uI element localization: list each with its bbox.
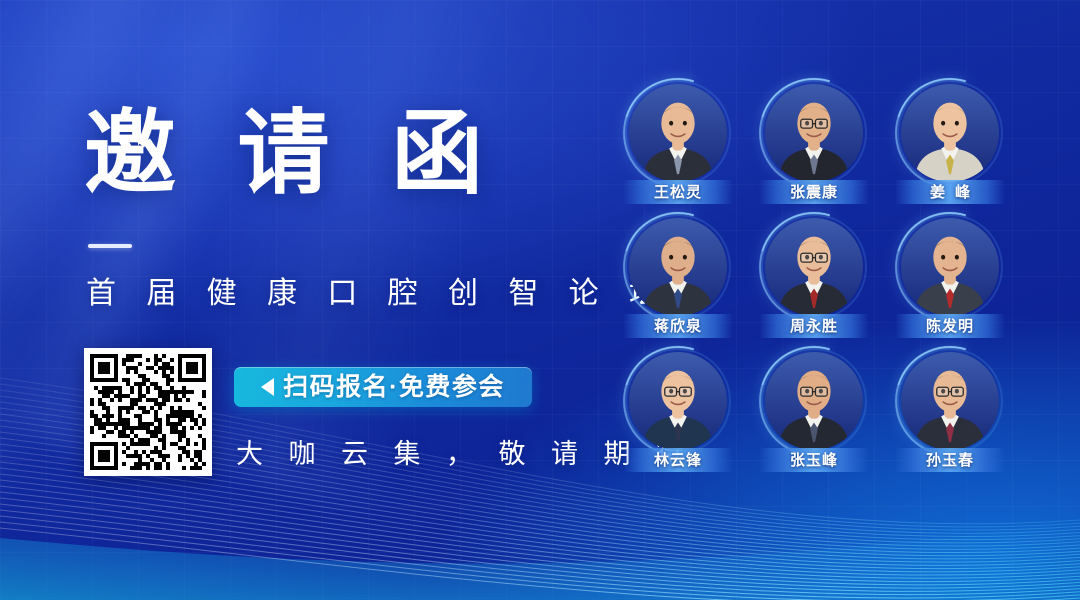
- avatar: [629, 218, 727, 316]
- speaker-name-plate: 张玉峰: [759, 448, 869, 472]
- speaker-name: 陈发明: [926, 319, 974, 334]
- avatar: [901, 84, 999, 182]
- left-content: 邀 请 函 首 届 健 康 口 腔 创 智 论 坛 扫码报名·免费参会 大 咖 …: [0, 0, 600, 600]
- speaker-name-plate: 蒋欣泉: [623, 314, 733, 338]
- speaker-name-plate: 陈发明: [895, 314, 1005, 338]
- speaker-name-plate: 孙玉春: [895, 448, 1005, 472]
- avatar: [901, 218, 999, 316]
- avatar: [765, 218, 863, 316]
- speaker-card[interactable]: 孙玉春: [882, 346, 1018, 480]
- avatar: [765, 352, 863, 450]
- speaker-card[interactable]: 张震康: [746, 78, 882, 212]
- speaker-name-plate: 姜峰: [895, 180, 1005, 204]
- register-button-label: 扫码报名·免费参会: [283, 375, 505, 400]
- avatar: [629, 352, 727, 450]
- qr-code[interactable]: [84, 348, 212, 476]
- speaker-card[interactable]: 周永胜: [746, 212, 882, 346]
- speaker-card[interactable]: 林云锋: [610, 346, 746, 480]
- speaker-card[interactable]: 张玉峰: [746, 346, 882, 480]
- page-subtitle: 首 届 健 康 口 腔 创 智 论 坛: [86, 268, 670, 312]
- avatar: [629, 84, 727, 182]
- speaker-card[interactable]: 陈发明: [882, 212, 1018, 346]
- speaker-name: 蒋欣泉: [654, 319, 702, 334]
- speaker-name: 孙玉春: [926, 453, 974, 468]
- speaker-name: 王松灵: [654, 185, 702, 200]
- speaker-name: 姜峰: [920, 185, 980, 200]
- page-title: 邀 请 函: [84, 102, 501, 206]
- speaker-name: 张震康: [790, 185, 838, 200]
- speaker-card[interactable]: 王松灵: [610, 78, 746, 212]
- speaker-name-plate: 周永胜: [759, 314, 869, 338]
- speaker-card[interactable]: 蒋欣泉: [610, 212, 746, 346]
- speaker-name-plate: 王松灵: [623, 180, 733, 204]
- speaker-card[interactable]: 姜峰: [882, 78, 1018, 212]
- speaker-name-plate: 林云锋: [623, 448, 733, 472]
- avatar: [765, 84, 863, 182]
- speaker-name: 林云锋: [654, 453, 702, 468]
- speaker-name: 张玉峰: [790, 453, 838, 468]
- avatar: [901, 352, 999, 450]
- speaker-name: 周永胜: [790, 319, 838, 334]
- register-button[interactable]: 扫码报名·免费参会: [234, 367, 532, 407]
- speaker-grid: 王松灵张震康姜峰蒋欣泉周永胜陈发明林云锋张玉峰孙玉春: [610, 78, 1018, 500]
- title-divider: [88, 244, 132, 248]
- invitation-poster: 邀 请 函 首 届 健 康 口 腔 创 智 论 坛 扫码报名·免费参会 大 咖 …: [0, 0, 1080, 600]
- triangle-left-icon: [261, 378, 274, 396]
- speaker-name-plate: 张震康: [759, 180, 869, 204]
